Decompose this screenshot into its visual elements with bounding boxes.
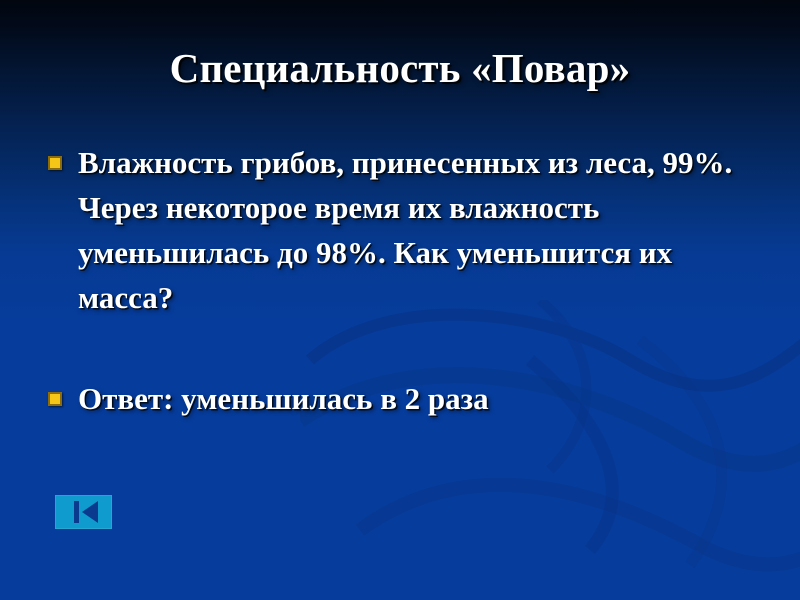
- bullet-marker-icon: [48, 156, 62, 170]
- presentation-slide: Специальность «Повар» Влажность грибов, …: [0, 0, 800, 600]
- slide-title: Специальность «Повар»: [0, 44, 800, 92]
- slide-body: Влажность грибов, принесенных из леса, 9…: [44, 140, 760, 421]
- bullet-item-problem: Влажность грибов, принесенных из леса, 9…: [44, 140, 760, 320]
- bullet-marker-icon: [48, 392, 62, 406]
- skip-to-start-icon: [55, 495, 112, 529]
- bullet-item-answer: Ответ: уменьшилась в 2 раза: [44, 376, 760, 421]
- previous-slide-button[interactable]: [55, 495, 112, 529]
- bullet-text-answer: Ответ: уменьшилась в 2 раза: [78, 376, 760, 421]
- bullet-text-problem: Влажность грибов, принесенных из леса, 9…: [78, 140, 760, 320]
